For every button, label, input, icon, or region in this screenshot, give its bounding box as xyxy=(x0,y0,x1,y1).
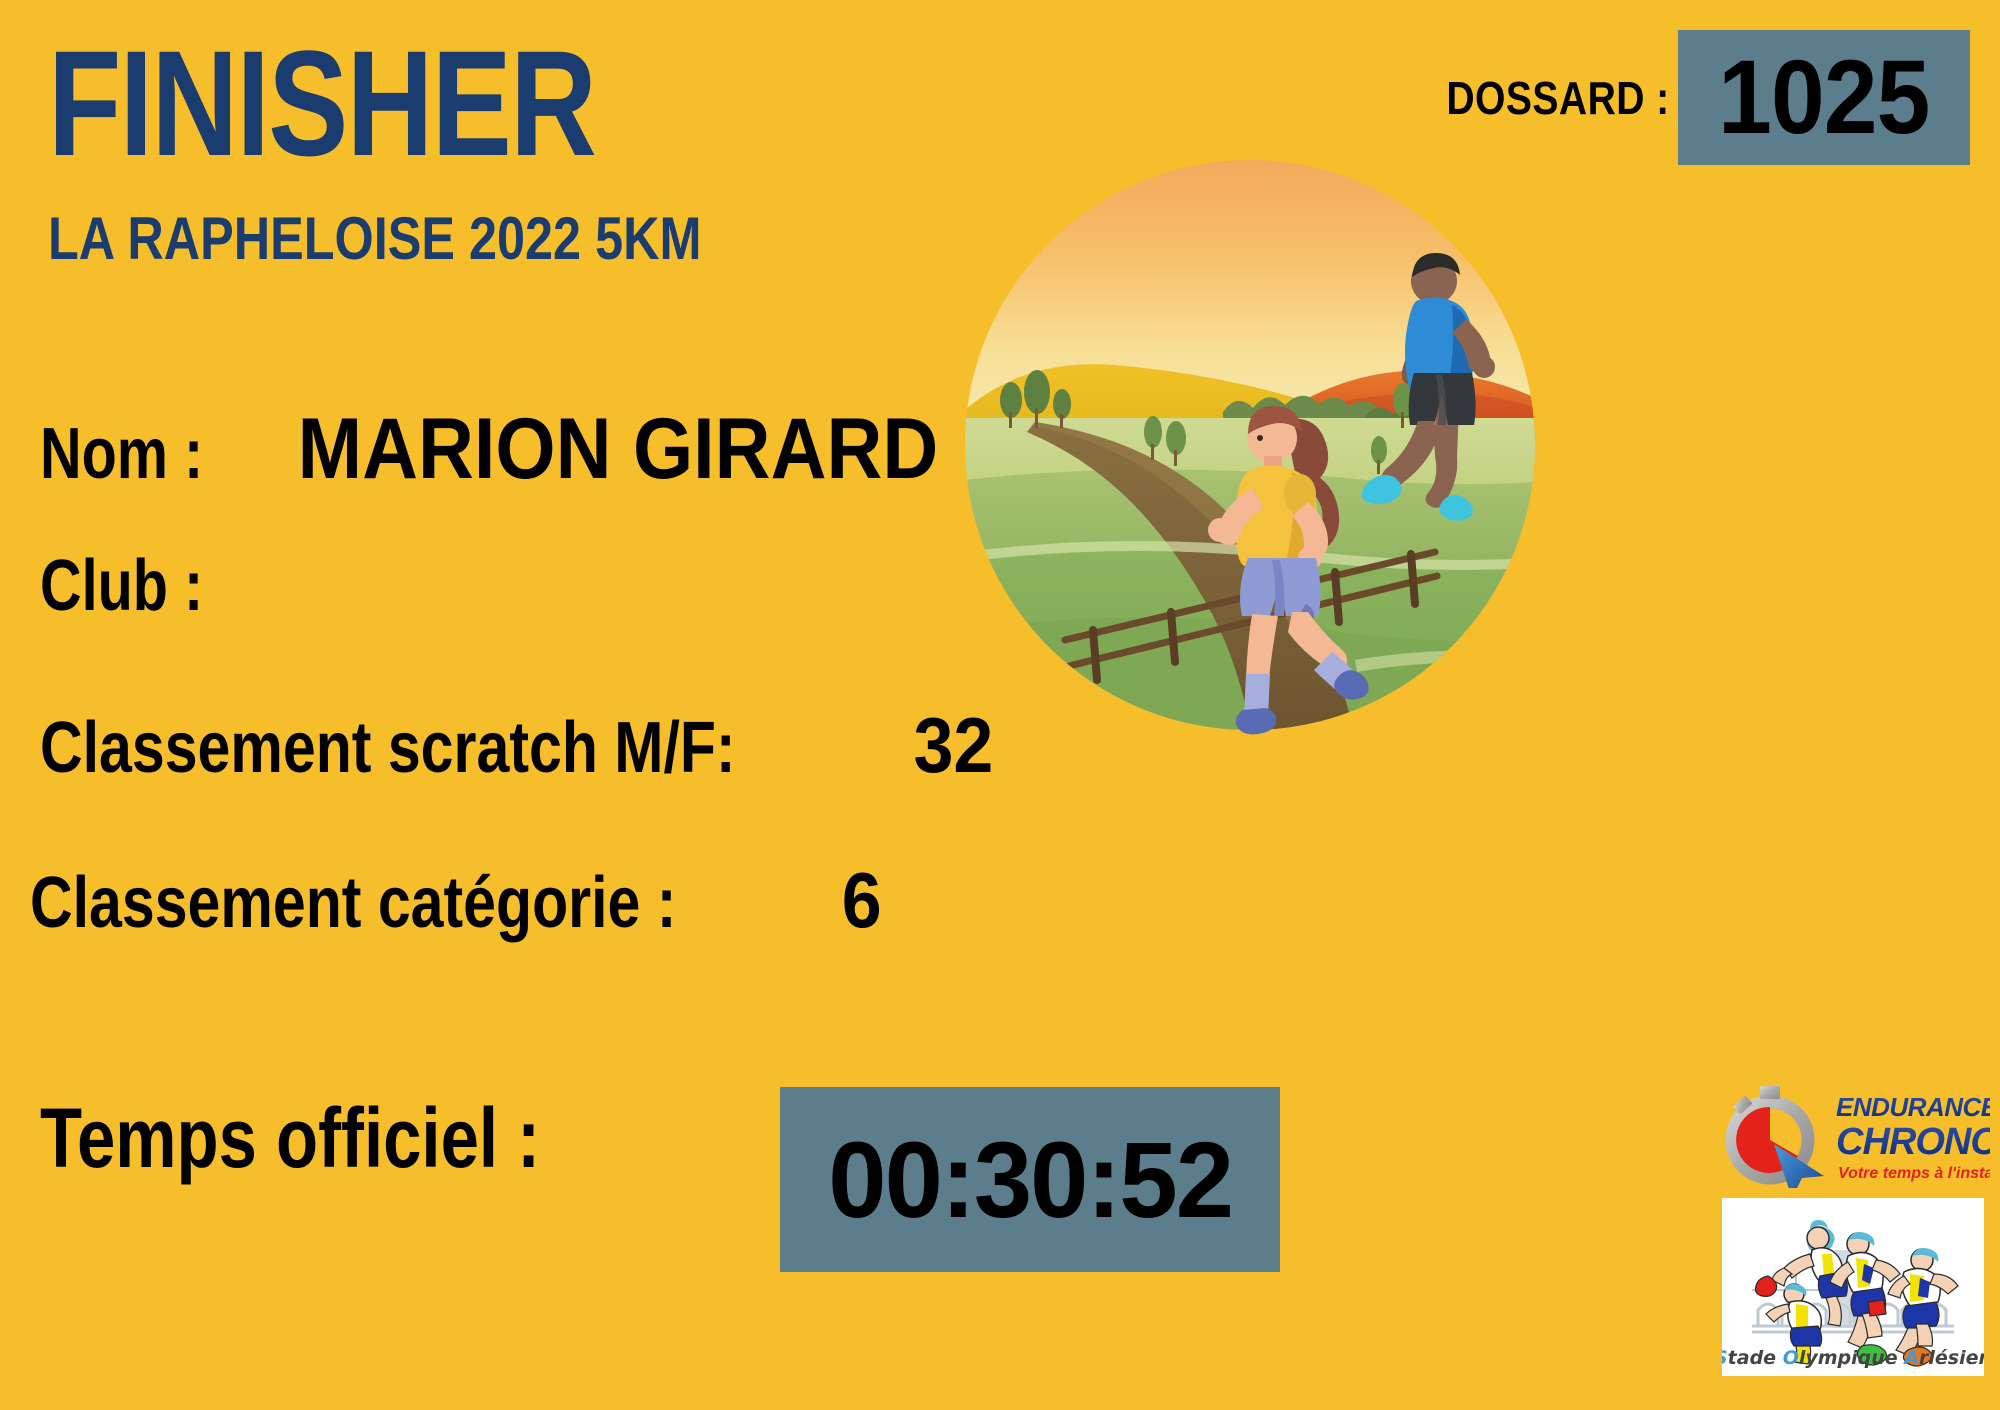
female-runner-figure xyxy=(1180,390,1395,735)
stade-olympique-arlesien-logo-svg: Stade Olympique Arlésien xyxy=(1722,1198,1984,1376)
nom-label: Nom : xyxy=(40,413,203,495)
temps-label: Temps officiel : xyxy=(40,1090,540,1187)
endurance-chrono-tagline: Votre temps à l'instant T xyxy=(1838,1165,1990,1182)
field-row-scratch: Classement scratch M/F: 32 xyxy=(40,700,997,791)
nom-value: MARION GIRARD xyxy=(298,400,939,499)
page-title: FINISHER xyxy=(48,28,595,178)
runners-illustration xyxy=(965,160,1535,730)
endurance-chrono-line1: ENDURANCE xyxy=(1836,1092,1990,1122)
stopwatch-icon xyxy=(1732,1086,1824,1188)
event-subtitle: LA RAPHELOISE 2022 5KM xyxy=(48,208,702,270)
club-label: Club : xyxy=(40,545,203,627)
categorie-label: Classement catégorie : xyxy=(30,862,676,944)
scratch-label: Classement scratch M/F: xyxy=(40,707,736,789)
finisher-certificate: FINISHER LA RAPHELOISE 2022 5KM DOSSARD … xyxy=(0,0,2000,1410)
field-row-temps: Temps officiel : xyxy=(40,1090,650,1187)
dossard-box: 1025 xyxy=(1678,30,1970,165)
field-row-nom: Nom : MARION GIRARD xyxy=(40,400,974,499)
dossard-value: 1025 xyxy=(1718,45,1929,150)
stade-olympique-caption: Stade Olympique Arlésien xyxy=(1722,1347,1984,1369)
field-row-categorie: Classement catégorie : 6 xyxy=(30,855,884,946)
endurance-chrono-logo: ENDURANCE CHRONO Votre temps à l'instant… xyxy=(1712,1078,1990,1188)
field-row-club: Club : xyxy=(40,545,262,627)
stade-olympique-arlesien-logo: Stade Olympique Arlésien xyxy=(1722,1198,1984,1376)
categorie-value: 6 xyxy=(842,855,882,946)
endurance-chrono-logo-svg: ENDURANCE CHRONO Votre temps à l'instant… xyxy=(1712,1078,1990,1188)
dossard-label: DOSSARD : xyxy=(1447,71,1670,125)
dossard-group: DOSSARD : 1025 xyxy=(1407,30,1970,165)
temps-box: 00:30:52 xyxy=(780,1087,1280,1272)
temps-value: 00:30:52 xyxy=(828,1126,1232,1234)
endurance-chrono-line2: CHRONO xyxy=(1836,1121,1990,1163)
